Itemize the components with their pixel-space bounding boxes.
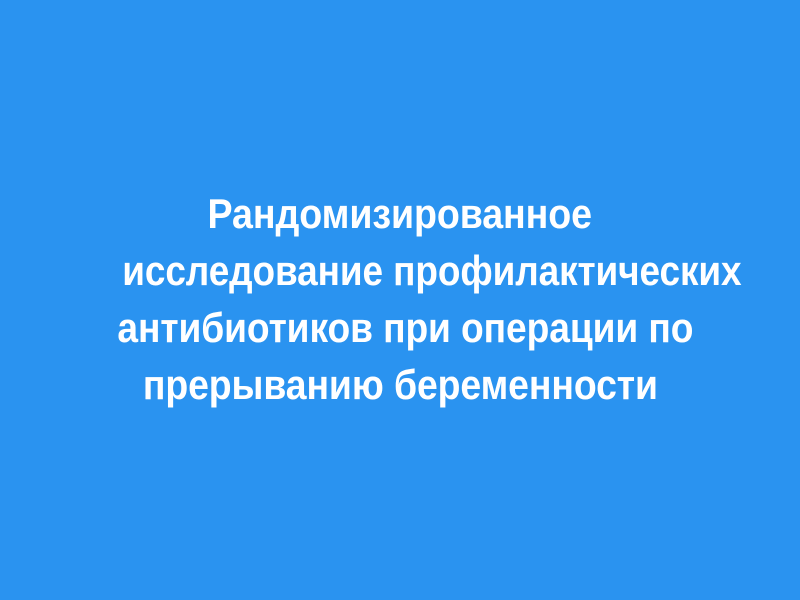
- title-slide: Рандомизированное исследование профилакт…: [0, 0, 800, 600]
- title-line-3-text: антибиотиков при операции по: [117, 299, 693, 356]
- slide-title: Рандомизированное исследование профилакт…: [80, 185, 720, 413]
- title-line-4: прерыванию беременности: [80, 356, 720, 413]
- title-line-4-text: прерыванию беременности: [142, 356, 657, 413]
- title-line-1-text: Рандомизированное: [208, 185, 592, 242]
- title-line-2: исследование профилактических: [80, 242, 720, 299]
- title-line-1: Рандомизированное: [80, 185, 720, 242]
- title-line-2-text: исследование профилактических: [122, 242, 741, 299]
- title-line-3: антибиотиков при операции по: [80, 299, 720, 356]
